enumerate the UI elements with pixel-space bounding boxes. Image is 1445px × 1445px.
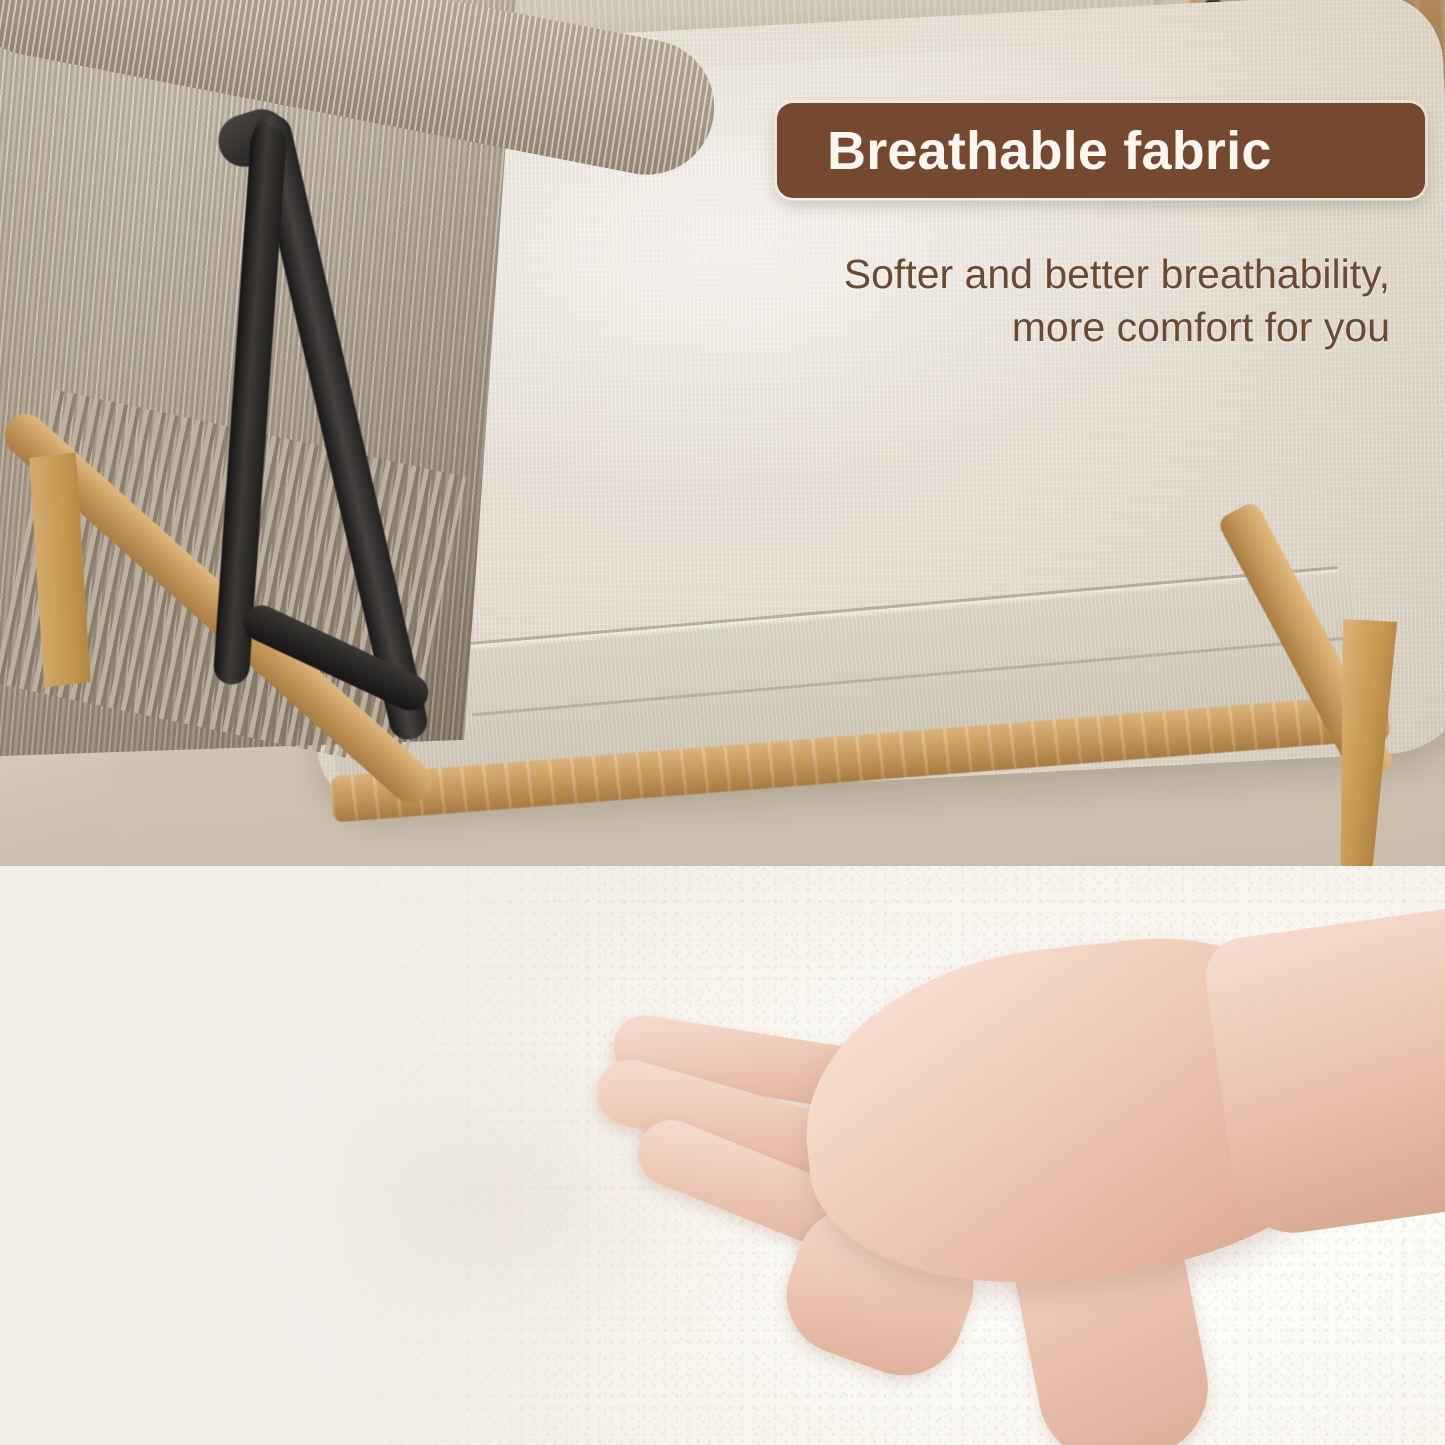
panel-high-density-rebound-sponge: High density rebound sponge Provides muc…: [0, 866, 1445, 1445]
panel-breathable-fabric: Breathable fabric Softer and better brea…: [0, 0, 1445, 866]
infographic-canvas: Breathable fabric Softer and better brea…: [0, 0, 1445, 1445]
badge-breathable-fabric: Breathable fabric: [777, 103, 1425, 198]
wrist: [1201, 902, 1445, 1241]
subtitle-line-1: Softer and better breathability,: [590, 248, 1390, 301]
subtitle-breathable-fabric: Softer and better breathability, more co…: [590, 248, 1390, 355]
subtitle-line-2: more comfort for you: [590, 301, 1390, 354]
hand-pressing-foam: [620, 916, 1445, 1436]
foam-left-fade: [0, 866, 620, 1445]
